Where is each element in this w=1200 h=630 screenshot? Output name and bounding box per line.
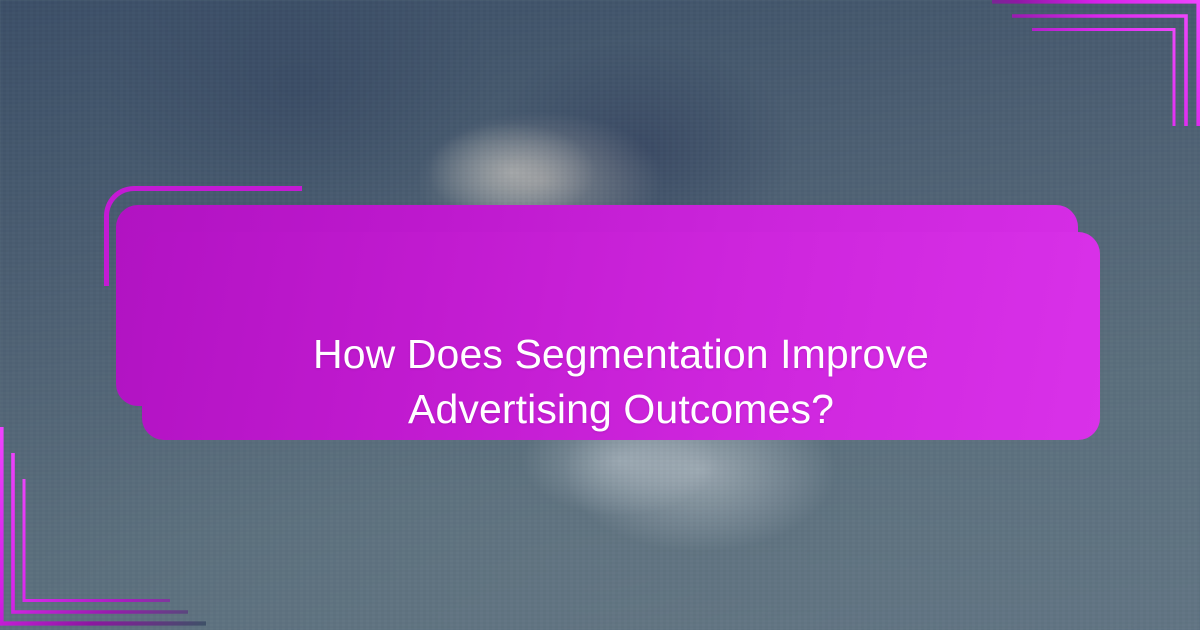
title-card-group: How Does Segmentation Improve Advertisin… (0, 0, 1200, 630)
card-front-layer: How Does Segmentation Improve Advertisin… (142, 232, 1100, 440)
page-title: How Does Segmentation Improve Advertisin… (271, 327, 971, 436)
